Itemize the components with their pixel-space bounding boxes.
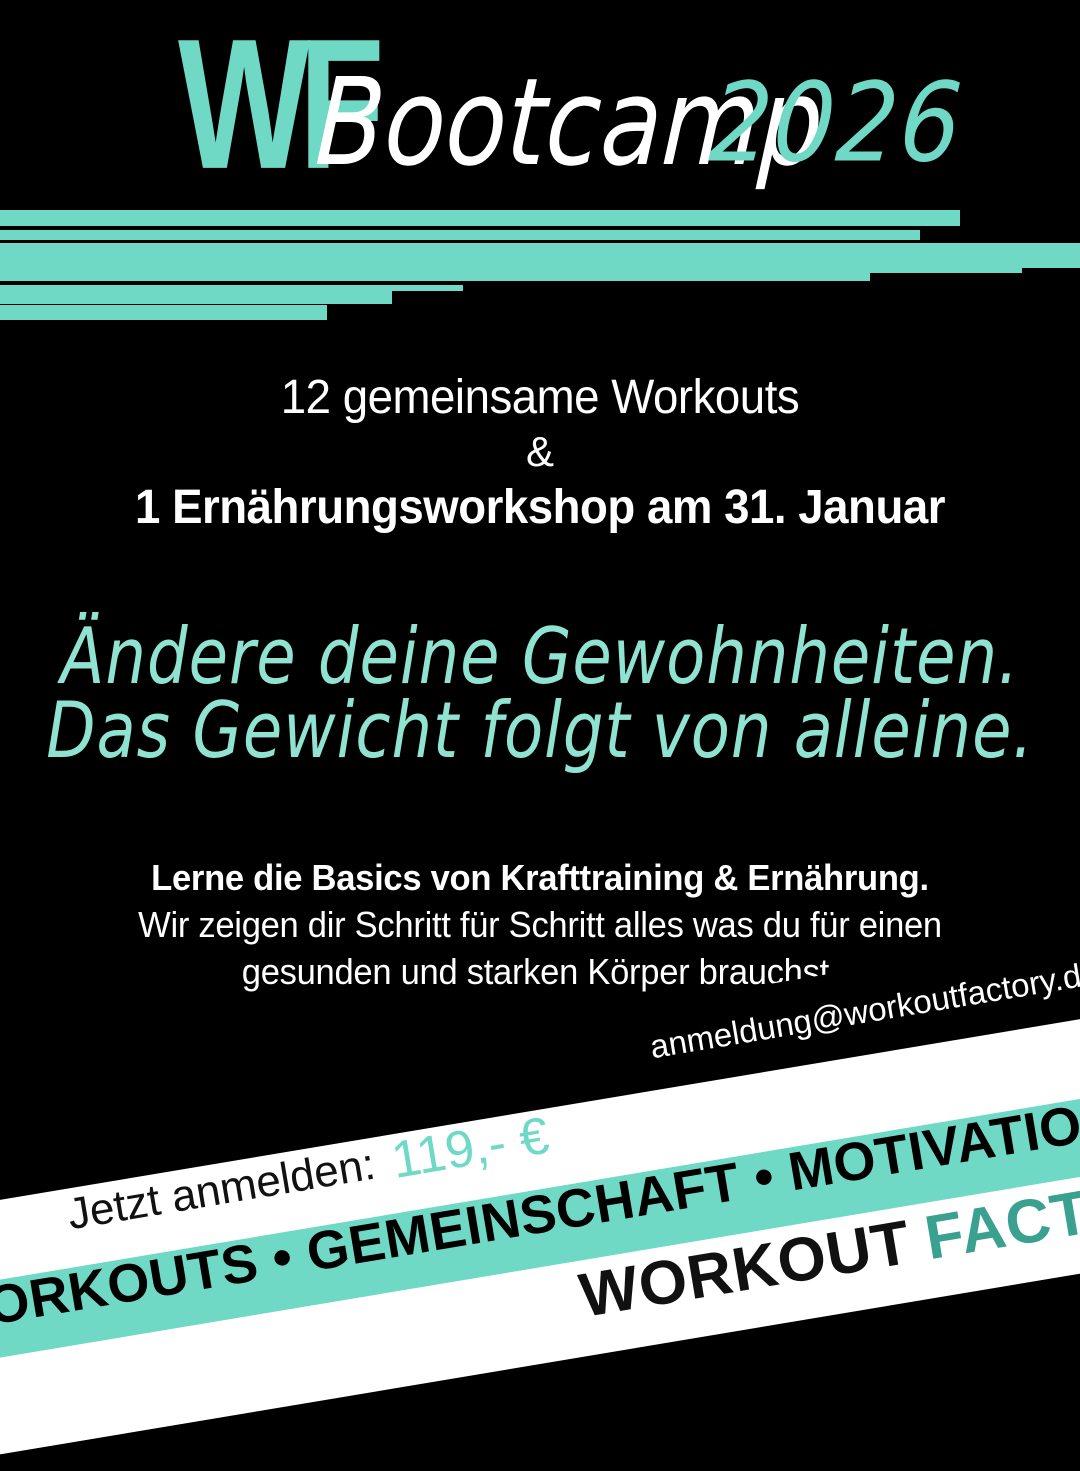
bottom-banner-group: WORKOUT FACTORY ON • WORKOUTS • GEMEINSC… <box>0 0 1080 1350</box>
